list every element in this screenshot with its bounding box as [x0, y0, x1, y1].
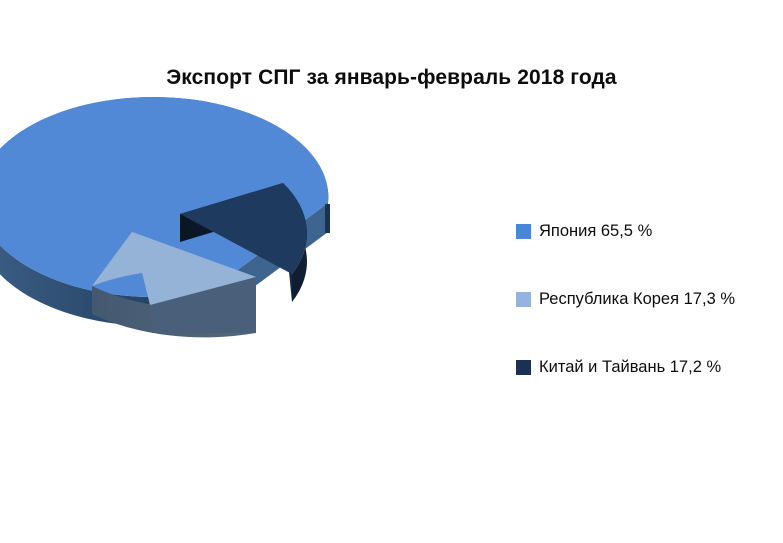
pie-plot-area	[0, 0, 540, 538]
legend-label-china-taiwan: Китай и Тайвань 17,2 %	[539, 359, 721, 376]
legend-swatch-republic-of-korea	[516, 292, 531, 307]
legend-swatch-japan	[516, 224, 531, 239]
pie-slice-japan-edge-shadow	[325, 204, 330, 233]
pie-svg	[0, 0, 540, 538]
legend-label-japan: Япония 65,5 %	[539, 223, 652, 240]
chart-legend: Япония 65,5 % Республика Корея 17,3 % Ки…	[516, 221, 778, 377]
legend-item-china-taiwan[interactable]: Китай и Тайвань 17,2 %	[516, 357, 778, 377]
legend-item-republic-of-korea[interactable]: Республика Корея 17,3 %	[516, 289, 778, 309]
legend-item-japan[interactable]: Япония 65,5 %	[516, 221, 778, 241]
legend-swatch-china-taiwan	[516, 360, 531, 375]
pie-chart-figure: Экспорт СПГ за январь-февраль 2018 года	[0, 0, 783, 538]
legend-label-republic-of-korea: Республика Корея 17,3 %	[539, 291, 735, 308]
